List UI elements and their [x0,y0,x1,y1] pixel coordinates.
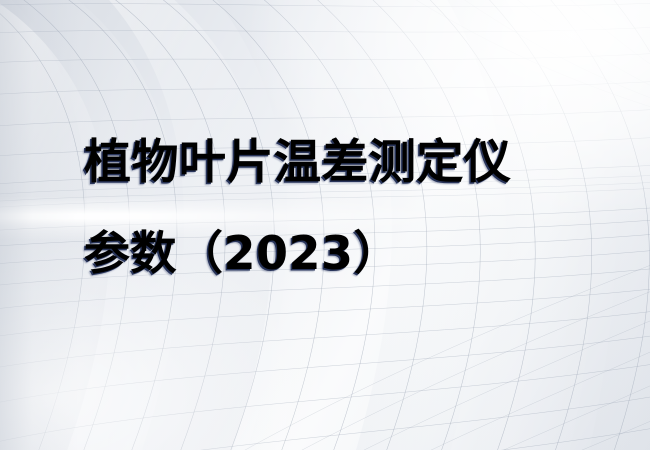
slide-title: 植物叶片温差测定仪 参数（2023） [84,118,604,298]
slide-title-line-2: 参数（2023） [84,208,604,298]
title-slide: 植物叶片温差测定仪 参数（2023） [0,0,650,450]
slide-title-line-1: 植物叶片温差测定仪 [84,118,604,208]
